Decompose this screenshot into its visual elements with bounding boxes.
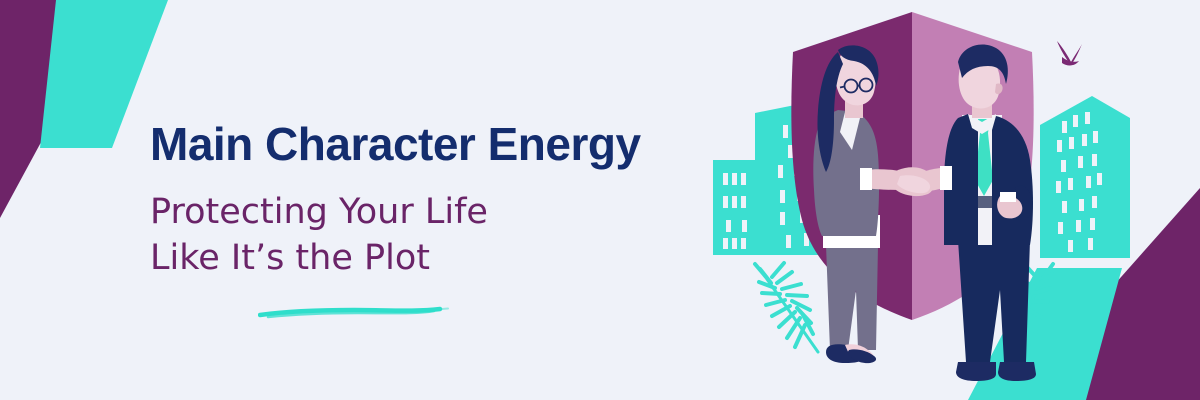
city-buildings-right-icon [1040,96,1130,258]
banner-subheadline-line-2: Like It’s the Plot [150,236,710,282]
banner-subheadline: Protecting Your Life Like It’s the Plot [150,190,710,281]
underline-accent [258,303,458,323]
banner-headline: Main Character Energy [150,120,710,168]
banner-text-block: Main Character Energy Protecting Your Li… [150,120,710,281]
brush-stroke-icon [258,303,458,323]
banner-subheadline-line-1: Protecting Your Life [150,190,710,236]
promo-banner: Main Character Energy Protecting Your Li… [0,0,1200,400]
